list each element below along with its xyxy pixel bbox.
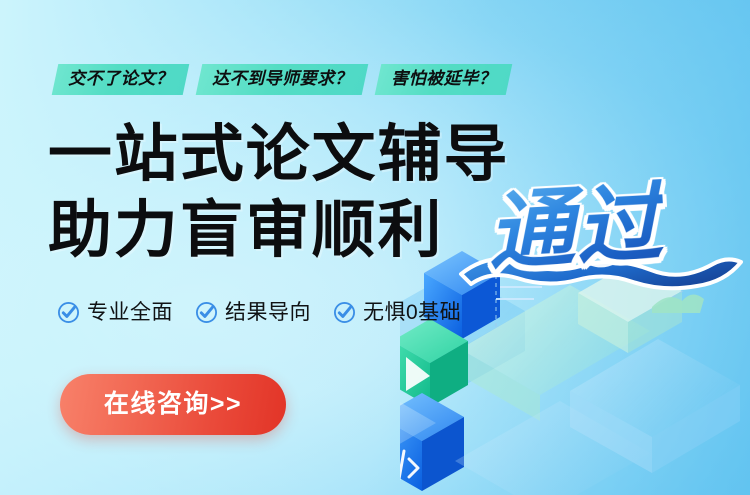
circle-check-icon xyxy=(195,301,218,324)
feature-item: 无惧0基础 xyxy=(333,300,461,325)
pain-point-tag: 达不到导师要求？ xyxy=(196,64,369,95)
online-consult-button[interactable]: 在线咨询>> xyxy=(60,374,286,435)
pain-point-tag-label: 达不到导师要求？ xyxy=(212,69,352,89)
headline-accent-word: 通过 xyxy=(485,171,666,284)
promo-banner: 交不了论文？ 达不到导师要求？ 害怕被延毕？ 一站式论文辅导 助力盲审顺利 通过… xyxy=(0,0,750,495)
pain-point-tag-label: 害怕被延毕？ xyxy=(391,69,496,89)
feature-item: 专业全面 xyxy=(57,300,173,325)
feature-label: 无惧0基础 xyxy=(363,300,461,325)
feature-item: 结果导向 xyxy=(195,300,311,325)
feature-label: 结果导向 xyxy=(225,300,311,325)
circle-check-icon xyxy=(333,301,356,324)
pain-point-tag: 害怕被延毕？ xyxy=(375,64,513,95)
feature-list: 专业全面 结果导向 无惧0基础 xyxy=(57,300,461,325)
pain-point-tag-list: 交不了论文？ 达不到导师要求？ 害怕被延毕？ xyxy=(55,64,509,95)
circle-check-icon xyxy=(57,301,80,324)
feature-label: 专业全面 xyxy=(87,300,173,325)
pain-point-tag: 交不了论文？ xyxy=(52,64,190,95)
pain-point-tag-label: 交不了论文？ xyxy=(68,69,173,89)
isometric-decoration xyxy=(400,245,750,495)
